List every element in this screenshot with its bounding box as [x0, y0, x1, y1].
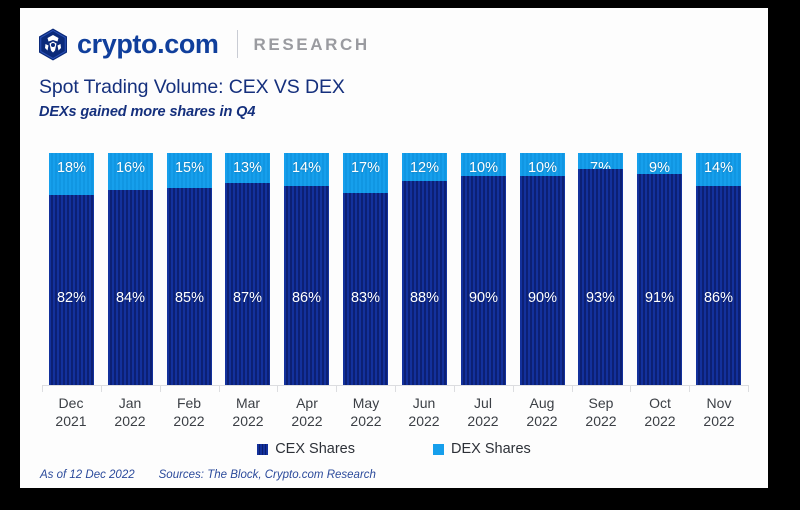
bar-value-label-dex: 16% — [116, 161, 145, 176]
bar-segment-dex[interactable]: 14% — [284, 153, 329, 186]
bar-segment-dex[interactable]: 14% — [696, 153, 741, 186]
bar-segment-cex[interactable]: 91% — [637, 174, 682, 386]
bar-column[interactable]: 12%88% — [402, 153, 447, 386]
x-axis-tick — [748, 385, 749, 392]
brand-header: crypto.com RESEARCH — [38, 26, 370, 62]
x-axis-tick — [160, 385, 161, 392]
bar-value-label-dex: 15% — [175, 161, 204, 176]
stacked-bar-chart: 18%82%16%84%15%85%13%87%14%86%17%83%12%8… — [42, 143, 748, 388]
x-axis-tick — [513, 385, 514, 392]
bar-segment-dex[interactable]: 13% — [225, 153, 270, 183]
bar-column[interactable]: 18%82% — [49, 153, 94, 386]
bar-column[interactable]: 10%90% — [461, 153, 506, 386]
bar-column[interactable]: 14%86% — [696, 153, 741, 386]
brand-division-label: RESEARCH — [254, 36, 370, 53]
chart-legend: CEX SharesDEX Shares — [20, 442, 768, 457]
legend-swatch-icon — [433, 444, 444, 455]
bar-segment-dex[interactable]: 10% — [520, 153, 565, 176]
bar-column[interactable]: 7%93% — [578, 153, 623, 386]
brand-divider — [237, 30, 238, 58]
bar-value-label-cex: 90% — [469, 291, 498, 306]
x-axis-label: Nov2022 — [684, 394, 754, 430]
bar-segment-cex[interactable]: 87% — [225, 183, 270, 386]
bar-segment-dex[interactable]: 16% — [108, 153, 153, 190]
x-axis-tick — [336, 385, 337, 392]
x-axis-tick — [395, 385, 396, 392]
bar-column[interactable]: 9%91% — [637, 153, 682, 386]
bar-value-label-cex: 87% — [233, 291, 262, 306]
bar-segment-dex[interactable]: 17% — [343, 153, 388, 193]
bar-value-label-cex: 86% — [292, 291, 321, 306]
bar-column[interactable]: 16%84% — [108, 153, 153, 386]
bar-value-label-cex: 93% — [586, 291, 615, 306]
bar-segment-dex[interactable]: 9% — [637, 153, 682, 174]
bar-segment-cex[interactable]: 90% — [520, 176, 565, 386]
bar-segment-cex[interactable]: 85% — [167, 188, 212, 386]
bar-value-label-dex: 10% — [469, 161, 498, 176]
crypto-com-logo-icon — [38, 28, 68, 61]
bar-value-label-cex: 86% — [704, 291, 733, 306]
bar-column[interactable]: 10%90% — [520, 153, 565, 386]
bar-column[interactable]: 15%85% — [167, 153, 212, 386]
legend-swatch-icon — [257, 444, 268, 455]
bar-segment-cex[interactable]: 83% — [343, 193, 388, 386]
bar-value-label-dex: 14% — [704, 161, 733, 176]
bar-segment-dex[interactable]: 7% — [578, 153, 623, 169]
legend-label: DEX Shares — [451, 442, 531, 457]
bar-value-label-cex: 82% — [57, 291, 86, 306]
report-card: crypto.com RESEARCH Spot Trading Volume:… — [20, 8, 768, 488]
chart-footer: As of 12 Dec 2022 Sources: The Block, Cr… — [40, 470, 376, 482]
bar-column[interactable]: 14%86% — [284, 153, 329, 386]
sources-note: Sources: The Block, Crypto.com Research — [159, 470, 376, 482]
x-axis-tick — [219, 385, 220, 392]
bar-value-label-cex: 88% — [410, 291, 439, 306]
page-title: Spot Trading Volume: CEX VS DEX — [39, 76, 345, 99]
as-of-date: As of 12 Dec 2022 — [40, 470, 135, 482]
x-axis-tick — [101, 385, 102, 392]
bar-segment-dex[interactable]: 12% — [402, 153, 447, 181]
bar-value-label-cex: 83% — [351, 291, 380, 306]
bar-segment-cex[interactable]: 93% — [578, 169, 623, 386]
bar-value-label-dex: 18% — [57, 161, 86, 176]
bar-value-label-cex: 90% — [528, 291, 557, 306]
bar-value-label-dex: 13% — [233, 161, 262, 176]
bar-value-label-cex: 85% — [175, 291, 204, 306]
bar-segment-cex[interactable]: 84% — [108, 190, 153, 386]
bar-segment-dex[interactable]: 15% — [167, 153, 212, 188]
bar-segment-cex[interactable]: 82% — [49, 195, 94, 386]
bar-value-label-dex: 12% — [410, 161, 439, 176]
bar-segment-cex[interactable]: 88% — [402, 181, 447, 386]
bar-column[interactable]: 13%87% — [225, 153, 270, 386]
legend-label: CEX Shares — [275, 442, 355, 457]
bar-value-label-dex: 17% — [351, 161, 380, 176]
x-axis-tick — [42, 385, 43, 392]
bar-segment-cex[interactable]: 86% — [284, 186, 329, 386]
bar-value-label-dex: 10% — [528, 161, 557, 176]
bar-value-label-dex: 14% — [292, 161, 321, 176]
bar-segment-cex[interactable]: 86% — [696, 186, 741, 386]
bar-segment-dex[interactable]: 10% — [461, 153, 506, 176]
bar-segment-cex[interactable]: 90% — [461, 176, 506, 386]
x-axis-tick — [630, 385, 631, 392]
legend-item[interactable]: DEX Shares — [433, 442, 531, 457]
x-axis-tick — [277, 385, 278, 392]
x-axis-tick — [689, 385, 690, 392]
bar-value-label-cex: 84% — [116, 291, 145, 306]
x-axis-tick — [454, 385, 455, 392]
brand-wordmark: crypto.com — [77, 31, 219, 58]
bar-column[interactable]: 17%83% — [343, 153, 388, 386]
page-subtitle: DEXs gained more shares in Q4 — [39, 104, 255, 120]
bar-value-label-cex: 91% — [645, 291, 674, 306]
bar-segment-dex[interactable]: 18% — [49, 153, 94, 195]
legend-item[interactable]: CEX Shares — [257, 442, 355, 457]
x-axis-tick — [572, 385, 573, 392]
